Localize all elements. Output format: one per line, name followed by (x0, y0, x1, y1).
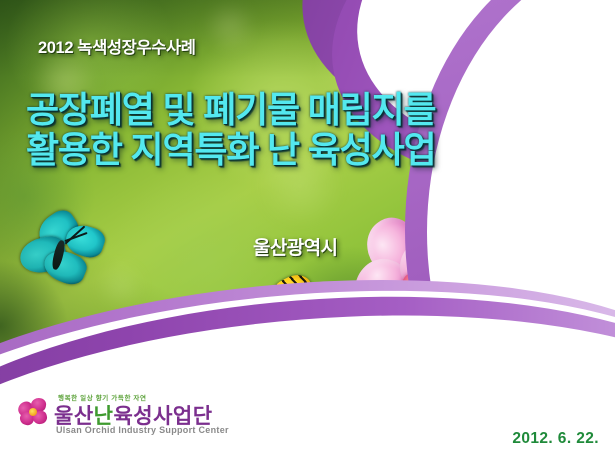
headline-line-2: 활용한 지역특화 난 육성사업 (26, 130, 566, 170)
logo-english-name: Ulsan Orchid Industry Support Center (56, 425, 229, 435)
presentation-title-slide: 2012 녹색성장우수사례 공장폐열 및 폐기물 매립지를 활용한 지역특화 난… (0, 0, 615, 460)
presentation-date: 2012. 6. 22. (512, 430, 599, 448)
headline-line-1: 공장폐열 및 폐기물 매립지를 (26, 90, 566, 130)
eyebrow-label: 2012 녹색성장우수사례 (38, 34, 196, 58)
organization-label: 울산광역시 (253, 233, 337, 260)
background-photo (0, 0, 615, 460)
logo-orchid-mark-icon (18, 398, 48, 426)
photo-vignette (0, 0, 615, 401)
headline: 공장폐열 및 폐기물 매립지를 활용한 지역특화 난 육성사업 (26, 90, 566, 170)
